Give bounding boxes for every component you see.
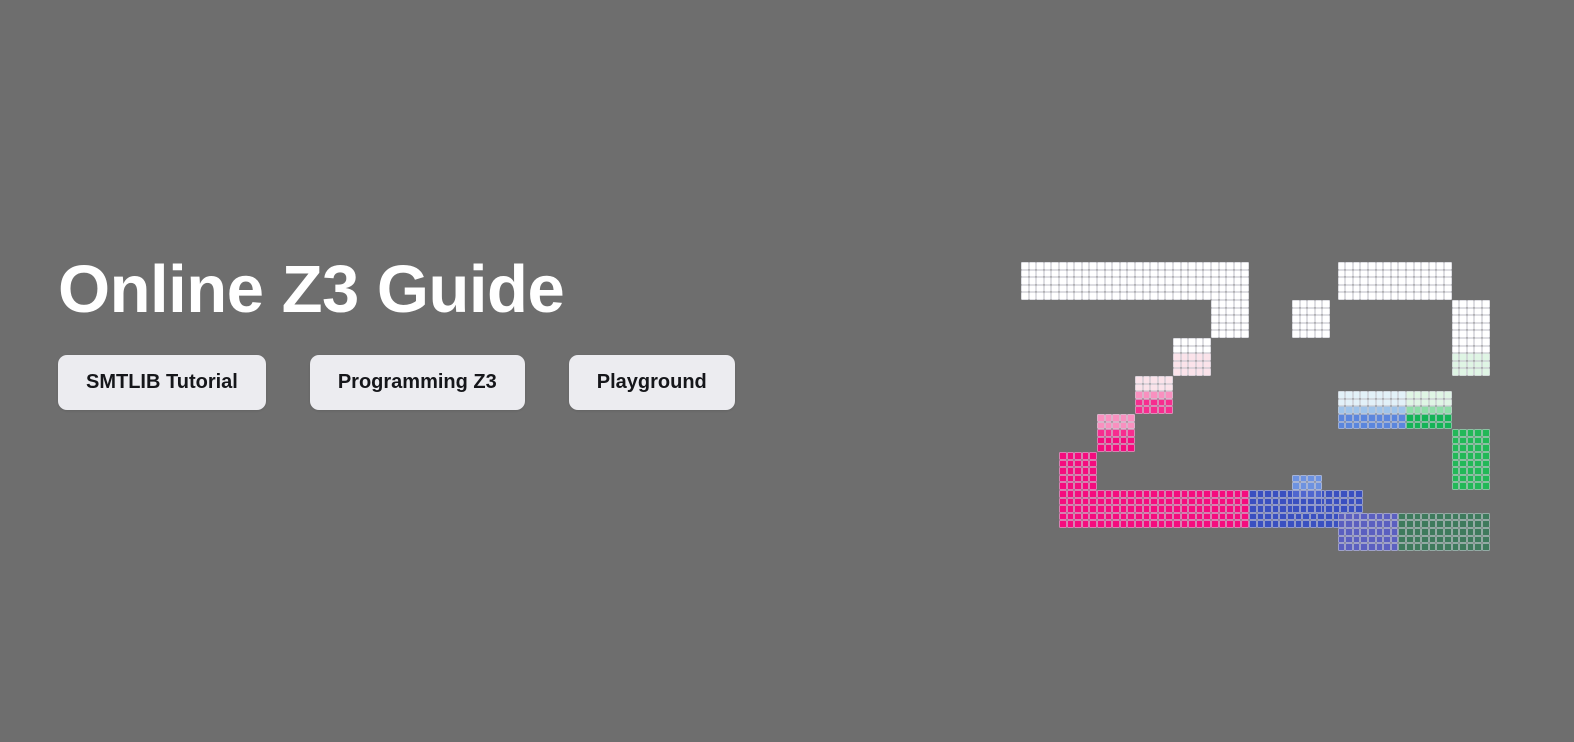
pixel-cell	[1219, 330, 1227, 338]
pixel-cell	[1105, 422, 1113, 430]
pixel-cell	[1127, 414, 1135, 422]
pixel-cell	[1143, 520, 1151, 528]
pixel-cell	[1345, 543, 1353, 551]
pixel-cell	[1120, 414, 1128, 422]
pixel-cell	[1398, 520, 1406, 528]
pixel-cell	[1325, 490, 1333, 498]
pixel-cell	[1338, 536, 1346, 544]
pixel-cell	[1474, 482, 1482, 490]
pixel-cell	[1241, 330, 1249, 338]
pixel-cell	[1097, 490, 1105, 498]
pixel-cell	[1279, 520, 1287, 528]
pixel-cell	[1398, 543, 1406, 551]
pixel-cell	[1421, 262, 1429, 270]
pixel-cell	[1143, 505, 1151, 513]
pixel-cell	[1158, 498, 1166, 506]
pixel-cell	[1135, 384, 1143, 392]
pixel-cell	[1360, 262, 1368, 270]
pixel-cell	[1150, 384, 1158, 392]
pixel-cell	[1127, 277, 1135, 285]
pixel-cell	[1398, 414, 1406, 422]
pixel-cell	[1391, 543, 1399, 551]
pixel-cell	[1376, 513, 1384, 521]
pixel-cell	[1067, 505, 1075, 513]
pixel-cell	[1226, 262, 1234, 270]
pixel-cell	[1376, 414, 1384, 422]
pixel-cell	[1234, 277, 1242, 285]
pixel-cell	[1097, 285, 1105, 293]
pixel-cell	[1452, 475, 1460, 483]
pixel-cell	[1467, 520, 1475, 528]
pixel-cell	[1173, 262, 1181, 270]
pixel-cell	[1226, 490, 1234, 498]
pixel-cell	[1360, 399, 1368, 407]
pixel-cell	[1406, 536, 1414, 544]
pixel-cell	[1226, 315, 1234, 323]
pixel-cell	[1127, 513, 1135, 521]
pixel-cell	[1406, 520, 1414, 528]
pixel-cell	[1135, 285, 1143, 293]
pixel-cell	[1196, 498, 1204, 506]
pixel-cell	[1135, 391, 1143, 399]
pixel-cell	[1211, 262, 1219, 270]
pixel-cell	[1203, 292, 1211, 300]
pixel-cell	[1353, 270, 1361, 278]
pixel-cell	[1135, 406, 1143, 414]
pixel-cell	[1421, 520, 1429, 528]
pixel-cell	[1383, 536, 1391, 544]
pixel-cell	[1360, 422, 1368, 430]
pixel-cell	[1097, 505, 1105, 513]
pixel-cell	[1467, 452, 1475, 460]
pixel-cell	[1249, 513, 1257, 521]
pixel-cell	[1021, 270, 1029, 278]
pixel-cell	[1272, 490, 1280, 498]
pixel-cell	[1414, 270, 1422, 278]
pixel-cell	[1368, 285, 1376, 293]
pixel-cell	[1059, 277, 1067, 285]
pixel-cell	[1241, 513, 1249, 521]
pixel-cell	[1165, 277, 1173, 285]
pixel-cell	[1021, 277, 1029, 285]
pixel-cell	[1368, 406, 1376, 414]
pixel-cell	[1452, 353, 1460, 361]
pixel-cell	[1257, 513, 1265, 521]
pixel-cell	[1150, 513, 1158, 521]
pixel-cell	[1051, 277, 1059, 285]
pixel-cell	[1300, 505, 1308, 513]
pixel-cell	[1482, 315, 1490, 323]
pixel-cell	[1474, 338, 1482, 346]
pixel-cell	[1067, 482, 1075, 490]
pixel-cell	[1279, 490, 1287, 498]
pixel-cell	[1264, 498, 1272, 506]
pixel-cell	[1150, 520, 1158, 528]
pixel-cell	[1459, 475, 1467, 483]
playground-button[interactable]: Playground	[569, 355, 735, 410]
pixel-cell	[1105, 490, 1113, 498]
pixel-cell	[1482, 520, 1490, 528]
pixel-cell	[1181, 361, 1189, 369]
pixel-cell	[1360, 391, 1368, 399]
pixel-cell	[1429, 262, 1437, 270]
pixel-cell	[1074, 498, 1082, 506]
pixel-cell	[1315, 482, 1323, 490]
pixel-cell	[1292, 505, 1300, 513]
pixel-cell	[1150, 505, 1158, 513]
pixel-cell	[1459, 346, 1467, 354]
pixel-cell	[1029, 292, 1037, 300]
pixel-cell	[1196, 346, 1204, 354]
pixel-cell	[1436, 543, 1444, 551]
pixel-cell	[1467, 368, 1475, 376]
pixel-cell	[1097, 513, 1105, 521]
pixel-cell	[1459, 353, 1467, 361]
pixel-cell	[1338, 292, 1346, 300]
pixel-cell	[1300, 482, 1308, 490]
pixel-cell	[1127, 437, 1135, 445]
pixel-cell	[1173, 285, 1181, 293]
pixel-cell	[1421, 422, 1429, 430]
pixel-cell	[1241, 262, 1249, 270]
pixel-cell	[1338, 391, 1346, 399]
pixel-cell	[1345, 406, 1353, 414]
pixel-cell	[1074, 285, 1082, 293]
pixel-cell	[1249, 498, 1257, 506]
pixel-cell	[1044, 292, 1052, 300]
pixel-cell	[1398, 422, 1406, 430]
pixel-cell	[1211, 300, 1219, 308]
pixel-cell	[1165, 285, 1173, 293]
pixel-cell	[1338, 262, 1346, 270]
pixel-cell	[1340, 490, 1348, 498]
pixel-cell	[1226, 330, 1234, 338]
pixel-cell	[1474, 361, 1482, 369]
pixel-cell	[1429, 277, 1437, 285]
pixel-cell	[1414, 513, 1422, 521]
pixel-cell	[1226, 308, 1234, 316]
pixel-cell	[1300, 315, 1308, 323]
pixel-cell	[1429, 543, 1437, 551]
pixel-cell	[1127, 444, 1135, 452]
pixel-cell	[1234, 323, 1242, 331]
pixel-cell	[1234, 513, 1242, 521]
pixel-cell	[1127, 505, 1135, 513]
pixel-cell	[1021, 262, 1029, 270]
pixel-cell	[1421, 513, 1429, 521]
pixel-cell	[1307, 300, 1315, 308]
pixel-cell	[1082, 505, 1090, 513]
pixel-cell	[1029, 262, 1037, 270]
pixel-cell	[1211, 520, 1219, 528]
pixel-cell	[1181, 346, 1189, 354]
pixel-cell	[1105, 414, 1113, 422]
pixel-cell	[1143, 262, 1151, 270]
pixel-cell	[1353, 391, 1361, 399]
pixel-cell	[1143, 376, 1151, 384]
pixel-cell	[1059, 513, 1067, 521]
pixel-cell	[1082, 467, 1090, 475]
pixel-cell	[1059, 452, 1067, 460]
pixel-cell	[1203, 361, 1211, 369]
pixel-cell	[1234, 292, 1242, 300]
pixel-cell	[1158, 490, 1166, 498]
pixel-cell	[1226, 270, 1234, 278]
pixel-cell	[1165, 513, 1173, 521]
pixel-cell	[1120, 505, 1128, 513]
pixel-cell	[1338, 399, 1346, 407]
pixel-cell	[1089, 292, 1097, 300]
pixel-cell	[1196, 505, 1204, 513]
pixel-cell	[1353, 414, 1361, 422]
pixel-cell	[1421, 543, 1429, 551]
pixel-cell	[1482, 429, 1490, 437]
pixel-cell	[1188, 505, 1196, 513]
pixel-cell	[1444, 292, 1452, 300]
pixel-cell	[1383, 292, 1391, 300]
pixel-cell	[1482, 368, 1490, 376]
pixel-cell	[1279, 505, 1287, 513]
pixel-cell	[1059, 475, 1067, 483]
pixel-cell	[1414, 262, 1422, 270]
pixel-cell	[1165, 262, 1173, 270]
pixel-cell	[1300, 323, 1308, 331]
pixel-cell	[1376, 406, 1384, 414]
pixel-cell	[1383, 414, 1391, 422]
pixel-cell	[1036, 270, 1044, 278]
pixel-cell	[1112, 270, 1120, 278]
pixel-cell	[1105, 437, 1113, 445]
pixel-cell	[1376, 262, 1384, 270]
pixel-cell	[1074, 292, 1082, 300]
pixel-cell	[1074, 467, 1082, 475]
pixel-cell	[1436, 270, 1444, 278]
pixel-cell	[1264, 520, 1272, 528]
pixel-cell	[1360, 536, 1368, 544]
pixel-cell	[1482, 467, 1490, 475]
pixel-cell	[1196, 513, 1204, 521]
pixel-cell	[1307, 505, 1315, 513]
pixel-cell	[1467, 338, 1475, 346]
pixel-cell	[1360, 270, 1368, 278]
pixel-cell	[1089, 520, 1097, 528]
pixel-cell	[1338, 528, 1346, 536]
pixel-cell	[1196, 338, 1204, 346]
pixel-cell	[1383, 270, 1391, 278]
pixel-cell	[1188, 361, 1196, 369]
pixel-cell	[1315, 308, 1323, 316]
pixel-cell	[1074, 452, 1082, 460]
pixel-cell	[1338, 422, 1346, 430]
pixel-cell	[1226, 285, 1234, 293]
pixel-cell	[1211, 277, 1219, 285]
pixel-cell	[1165, 406, 1173, 414]
pixel-cell	[1360, 406, 1368, 414]
pixel-cell	[1120, 262, 1128, 270]
pixel-cell	[1203, 520, 1211, 528]
pixel-cell	[1406, 270, 1414, 278]
pixel-cell	[1287, 520, 1295, 528]
pixel-cell	[1459, 467, 1467, 475]
pixel-cell	[1067, 467, 1075, 475]
pixel-cell	[1188, 368, 1196, 376]
pixel-cell	[1444, 285, 1452, 293]
z3-pixel-logo	[1021, 262, 1521, 584]
pixel-cell	[1089, 270, 1097, 278]
pixel-cell	[1203, 513, 1211, 521]
pixel-cell	[1467, 308, 1475, 316]
pixel-cell	[1474, 437, 1482, 445]
pixel-cell	[1353, 262, 1361, 270]
pixel-cell	[1421, 277, 1429, 285]
pixel-cell	[1120, 285, 1128, 293]
pixel-cell	[1143, 490, 1151, 498]
pixel-cell	[1459, 482, 1467, 490]
pixel-cell	[1067, 475, 1075, 483]
pixel-cell	[1467, 353, 1475, 361]
pixel-cell	[1383, 513, 1391, 521]
pixel-cell	[1474, 353, 1482, 361]
pixel-cell	[1345, 422, 1353, 430]
pixel-cell	[1219, 308, 1227, 316]
pixel-cell	[1459, 300, 1467, 308]
pixel-cell	[1074, 520, 1082, 528]
pixel-cell	[1257, 490, 1265, 498]
pixel-cell	[1376, 391, 1384, 399]
pixel-cell	[1067, 460, 1075, 468]
pixel-cell	[1406, 292, 1414, 300]
pixel-cell	[1482, 444, 1490, 452]
pixel-cell	[1241, 277, 1249, 285]
pixel-cell	[1196, 368, 1204, 376]
pixel-cell	[1135, 292, 1143, 300]
pixel-cell	[1135, 490, 1143, 498]
pixel-cell	[1173, 490, 1181, 498]
pixel-cell	[1165, 376, 1173, 384]
pixel-cell	[1436, 285, 1444, 293]
pixel-cell	[1150, 285, 1158, 293]
pixel-cell	[1143, 292, 1151, 300]
pixel-cell	[1219, 323, 1227, 331]
pixel-cell	[1097, 437, 1105, 445]
pixel-cell	[1353, 285, 1361, 293]
pixel-cell	[1097, 277, 1105, 285]
pixel-cell	[1452, 452, 1460, 460]
pixel-cell	[1482, 513, 1490, 521]
pixel-cell	[1044, 262, 1052, 270]
pixel-cell	[1188, 513, 1196, 521]
pixel-cell	[1474, 323, 1482, 331]
pixel-cell	[1234, 285, 1242, 293]
pixel-cell	[1234, 262, 1242, 270]
pixel-cell	[1444, 391, 1452, 399]
pixel-cell	[1089, 277, 1097, 285]
pixel-cell	[1127, 429, 1135, 437]
pixel-cell	[1089, 475, 1097, 483]
pixel-cell	[1292, 482, 1300, 490]
pixel-cell	[1105, 505, 1113, 513]
pixel-cell	[1181, 285, 1189, 293]
pixel-cell	[1089, 467, 1097, 475]
pixel-cell	[1105, 520, 1113, 528]
pixel-cell	[1120, 277, 1128, 285]
pixel-cell	[1360, 513, 1368, 521]
pixel-cell	[1082, 270, 1090, 278]
pixel-cell	[1376, 520, 1384, 528]
pixel-cell	[1188, 270, 1196, 278]
pixel-cell	[1406, 391, 1414, 399]
pixel-cell	[1112, 262, 1120, 270]
pixel-cell	[1482, 460, 1490, 468]
pixel-cell	[1120, 292, 1128, 300]
pixel-cell	[1348, 498, 1356, 506]
pixel-cell	[1196, 277, 1204, 285]
pixel-cell	[1219, 520, 1227, 528]
smtlib-tutorial-button[interactable]: SMTLIB Tutorial	[58, 355, 266, 410]
pixel-cell	[1226, 300, 1234, 308]
pixel-cell	[1307, 323, 1315, 331]
pixel-cell	[1421, 391, 1429, 399]
pixel-cell	[1444, 543, 1452, 551]
pixel-cell	[1452, 346, 1460, 354]
pixel-cell	[1474, 536, 1482, 544]
pixel-cell	[1459, 444, 1467, 452]
pixel-cell	[1097, 270, 1105, 278]
pixel-cell	[1376, 536, 1384, 544]
pixel-cell	[1414, 536, 1422, 544]
pixel-cell	[1074, 482, 1082, 490]
pixel-cell	[1383, 422, 1391, 430]
pixel-cell	[1452, 361, 1460, 369]
pixel-cell	[1436, 414, 1444, 422]
pixel-cell	[1158, 285, 1166, 293]
pixel-cell	[1406, 262, 1414, 270]
pixel-cell	[1112, 444, 1120, 452]
pixel-cell	[1143, 277, 1151, 285]
pixel-cell	[1143, 285, 1151, 293]
pixel-cell	[1150, 498, 1158, 506]
pixel-cell	[1459, 437, 1467, 445]
pixel-cell	[1398, 277, 1406, 285]
pixel-cell	[1292, 490, 1300, 498]
pixel-cell	[1355, 498, 1363, 506]
pixel-cell	[1482, 475, 1490, 483]
pixel-cell	[1059, 505, 1067, 513]
pixel-cell	[1097, 262, 1105, 270]
pixel-cell	[1467, 543, 1475, 551]
pixel-cell	[1112, 422, 1120, 430]
pixel-cell	[1325, 505, 1333, 513]
pixel-cell	[1067, 262, 1075, 270]
pixel-cell	[1089, 490, 1097, 498]
pixel-cell	[1414, 391, 1422, 399]
pixel-cell	[1287, 513, 1295, 521]
pixel-cell	[1310, 513, 1318, 521]
pixel-cell	[1036, 262, 1044, 270]
pixel-cell	[1173, 292, 1181, 300]
pixel-cell	[1482, 452, 1490, 460]
programming-z3-button[interactable]: Programming Z3	[310, 355, 525, 410]
pixel-cell	[1353, 277, 1361, 285]
pixel-cell	[1292, 315, 1300, 323]
pixel-cell	[1173, 277, 1181, 285]
pixel-cell	[1082, 262, 1090, 270]
pixel-cell	[1272, 520, 1280, 528]
pixel-cell	[1203, 285, 1211, 293]
pixel-cell	[1452, 315, 1460, 323]
pixel-cell	[1467, 315, 1475, 323]
pixel-cell	[1429, 422, 1437, 430]
